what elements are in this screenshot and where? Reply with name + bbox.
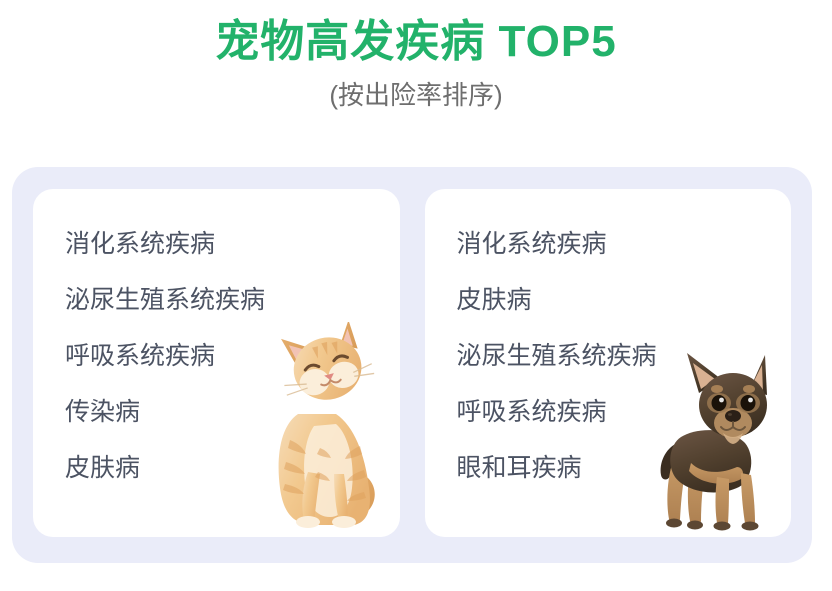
list-item: 消化系统疾病 (457, 216, 784, 272)
list-item: 呼吸系统疾病 (457, 384, 784, 440)
list-item: 消化系统疾病 (65, 216, 392, 272)
disease-cards-row: 消化系统疾病 泌尿生殖系统疾病 呼吸系统疾病 传染病 皮肤病 (12, 167, 812, 563)
page-title: 宠物高发疾病 TOP5 (0, 16, 832, 68)
disease-list-cat: 消化系统疾病 泌尿生殖系统疾病 呼吸系统疾病 传染病 皮肤病 (65, 216, 392, 496)
list-item: 皮肤病 (457, 272, 784, 328)
disease-list-dog: 消化系统疾病 皮肤病 泌尿生殖系统疾病 呼吸系统疾病 眼和耳疾病 (457, 216, 784, 496)
page-header: 宠物高发疾病 TOP5 (按出险率排序) (0, 0, 832, 111)
list-item: 眼和耳疾病 (457, 440, 784, 496)
disease-panel: 消化系统疾病 泌尿生殖系统疾病 呼吸系统疾病 传染病 皮肤病 (12, 167, 812, 563)
disease-card-dog[interactable]: 消化系统疾病 皮肤病 泌尿生殖系统疾病 呼吸系统疾病 眼和耳疾病 (425, 189, 792, 537)
list-item: 传染病 (65, 384, 392, 440)
list-item: 泌尿生殖系统疾病 (457, 328, 784, 384)
list-item: 呼吸系统疾病 (65, 328, 392, 384)
list-item: 泌尿生殖系统疾病 (65, 272, 392, 328)
disease-card-cat[interactable]: 消化系统疾病 泌尿生殖系统疾病 呼吸系统疾病 传染病 皮肤病 (33, 189, 400, 537)
list-item: 皮肤病 (65, 440, 392, 496)
page-subtitle: (按出险率排序) (0, 80, 832, 111)
